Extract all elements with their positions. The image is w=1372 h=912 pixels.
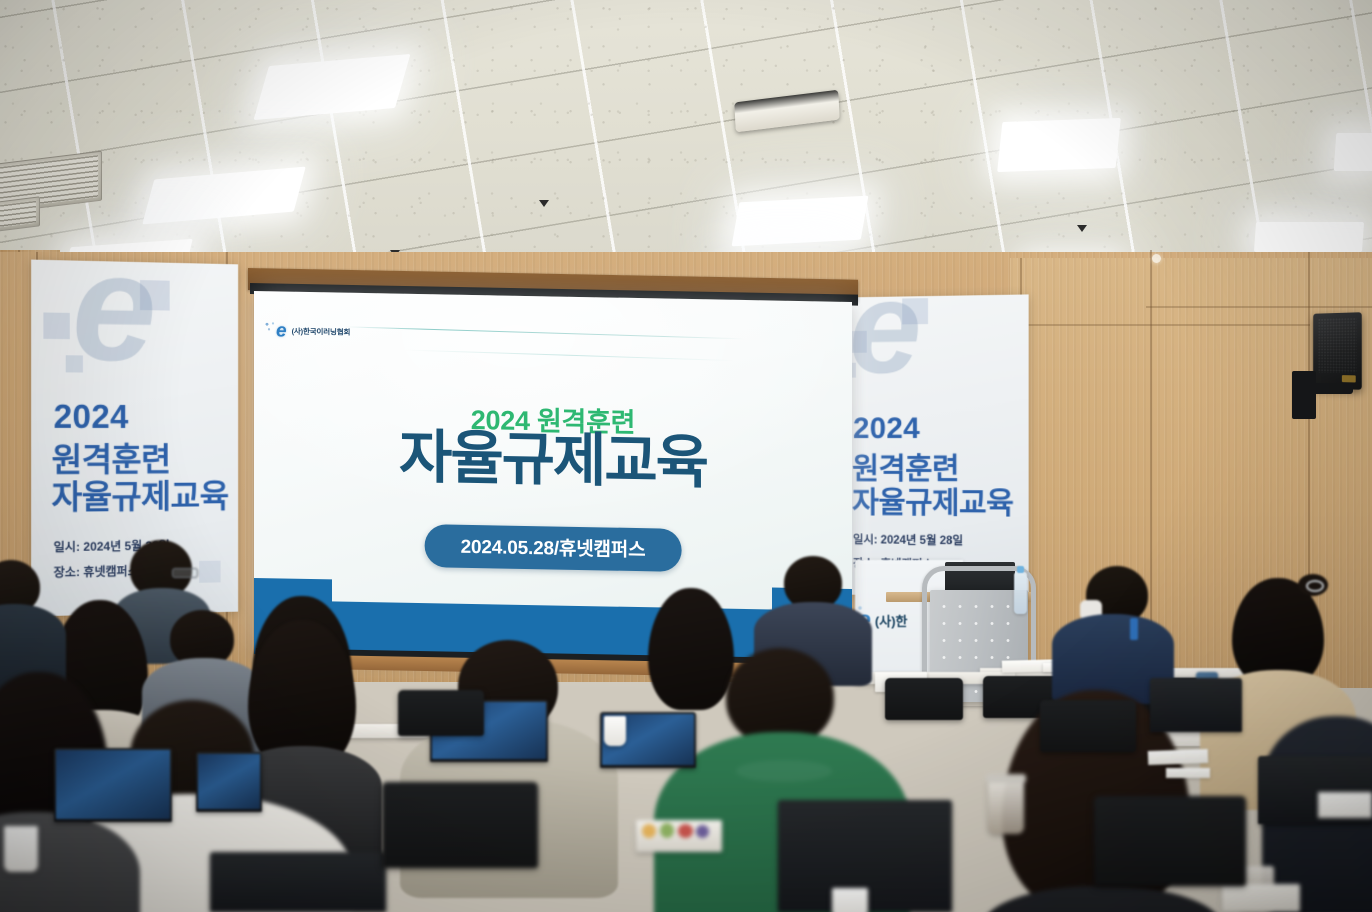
banner-right: e 2024 원격훈련 자율규제교육 일시: 2024년 5월 28일 장소: … — [839, 294, 1028, 597]
paper-cup-front-center — [832, 888, 868, 912]
slide-org-name: (사)한국이러닝협회 — [292, 326, 351, 338]
lower-banner-org: (사)한 — [875, 611, 908, 630]
snack-tray-right — [1222, 884, 1300, 912]
wall-speaker — [1313, 312, 1362, 390]
projection-screen: e (사)한국이러닝협회 2024 원격훈련 자율규제교육 2024.05.28… — [254, 291, 852, 665]
banner-right-line2: 자율규제교육 — [852, 478, 1013, 523]
ceiling-light-9 — [1334, 133, 1372, 171]
papers-right-table — [1148, 749, 1208, 765]
slide-date-pill: 2024.05.28/휴넷캠퍼스 — [425, 524, 682, 572]
wall-sensor — [1152, 254, 1161, 263]
speaker-mount-arm — [1309, 383, 1353, 394]
banner-right-year: 2024 — [853, 412, 920, 446]
slide-rule-top — [344, 326, 744, 339]
iced-cup-right — [988, 778, 1024, 834]
elearning-e-icon: e — [276, 321, 287, 340]
slide-org-logo: e (사)한국이러닝협회 — [276, 321, 350, 341]
laptop-left-2 — [196, 752, 262, 812]
banner-left-line2: 자율규제교육 — [52, 470, 229, 519]
laptop-right-1 — [1150, 678, 1242, 732]
chair-back-r1 — [885, 678, 963, 720]
slide-title: 자율규제교육 — [254, 424, 852, 496]
lecture-room-photo: e 2024 원격훈련 자율규제교육 일시: 2024년 5월 28일 장소: … — [0, 0, 1372, 912]
laptop-left-1 — [54, 748, 172, 822]
ceiling-light-5 — [997, 118, 1121, 172]
papers-front-right — [1318, 792, 1372, 818]
chair-front-left — [382, 782, 538, 868]
laptop-front-left — [210, 852, 386, 912]
slide-rule-top-2 — [404, 349, 734, 361]
paper-cup-mid-left — [604, 716, 626, 746]
chair-mid-center — [398, 690, 484, 736]
papers-mid-right — [1166, 768, 1210, 778]
paper-cup-front-left — [4, 826, 38, 872]
speaker-mount-bracket — [1292, 371, 1316, 419]
banner-left-place: 장소: 휴넷캠퍼스 — [54, 562, 139, 581]
chair-front-right — [1094, 796, 1246, 886]
sprinkler-3 — [1077, 225, 1087, 232]
banner-left-year: 2024 — [54, 398, 129, 436]
sprinkler-1 — [539, 200, 549, 207]
water-bottle-podium — [1014, 572, 1027, 614]
snack-tray-center — [636, 820, 722, 852]
banner-right-date: 일시: 2024년 5월 28일 — [853, 531, 963, 548]
ceiling-light-4 — [732, 196, 869, 247]
chair-mid-right — [1040, 700, 1136, 752]
ceiling-light-7 — [1254, 222, 1364, 252]
